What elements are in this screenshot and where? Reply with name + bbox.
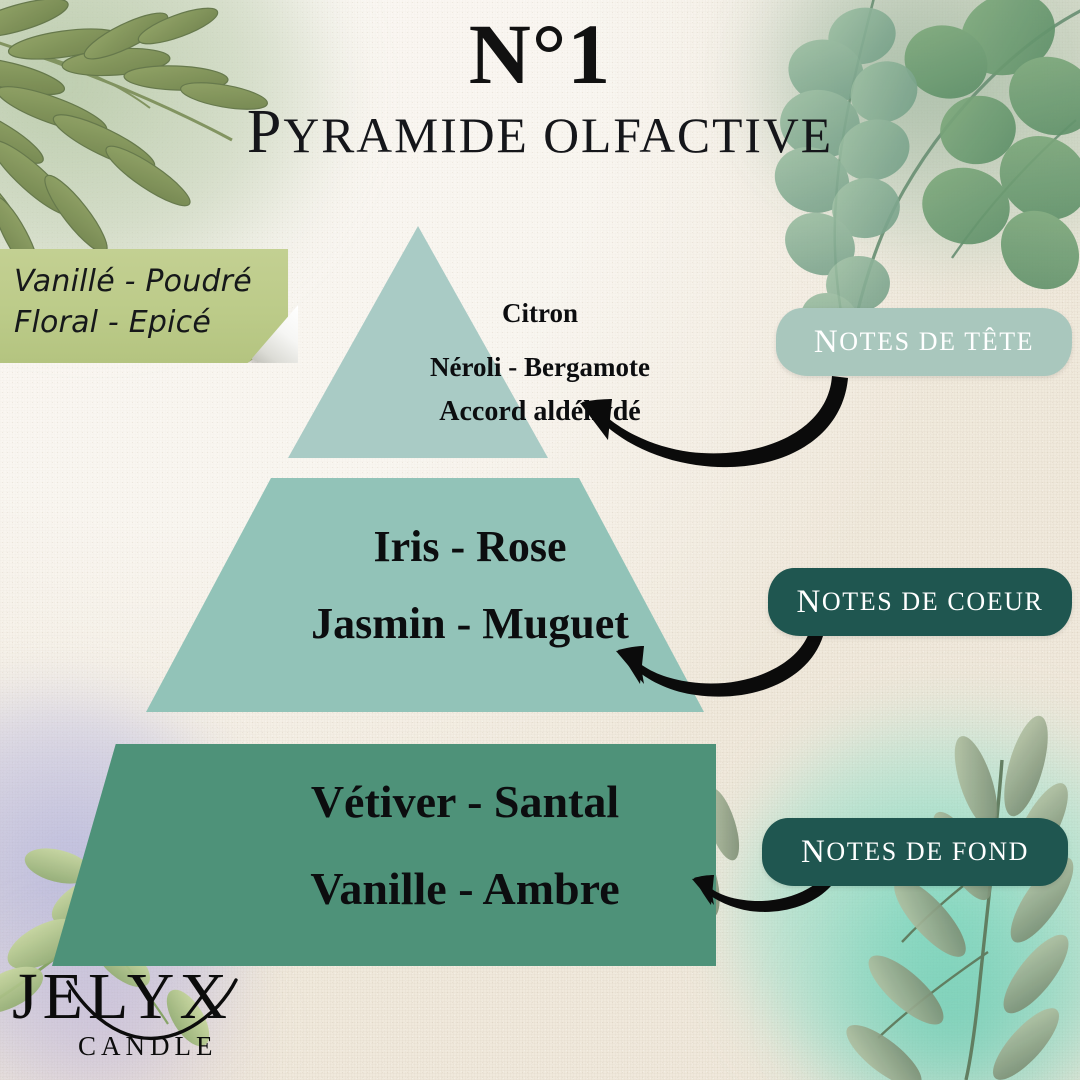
pill-notes-de-fond-initial: N [801, 834, 826, 871]
note-heart-1: Iris - Rose [0, 521, 940, 572]
pill-notes-de-coeur-initial: N [796, 584, 821, 621]
pyramid-level-heart[interactable] [146, 478, 704, 712]
logo-flourish-icon [12, 966, 262, 1058]
note-top-3: Accord aldéhydé [0, 396, 1080, 428]
fragrance-family-tag: Vanillé - Poudré Floral - Epicé [0, 249, 300, 369]
pill-notes-de-coeur-label: OTES DE COEUR [822, 587, 1044, 617]
pill-notes-de-tete-label: OTES DE TÊTE [839, 327, 1034, 357]
page-title: PYRAMIDE OLFACTIVE [0, 100, 1080, 165]
page-title-initial: P [247, 98, 283, 166]
pill-notes-de-fond-label: OTES DE FOND [826, 837, 1029, 867]
poster-header: N°1 PYRAMIDE OLFACTIVE [0, 14, 1080, 165]
pill-notes-de-fond[interactable]: NOTES DE FOND [762, 818, 1068, 886]
fragrance-family-tag-text: Vanillé - Poudré Floral - Epicé [14, 261, 274, 344]
page-title-rest: YRAMIDE OLFACTIVE [283, 108, 833, 163]
brand-logo[interactable]: JELYX CANDLE [12, 966, 232, 1062]
fragrance-family-line-2: Floral - Epicé [14, 302, 274, 343]
fragrance-family-line-1: Vanillé - Poudré [14, 261, 274, 302]
pill-notes-de-tete[interactable]: NOTES DE TÊTE [776, 308, 1072, 376]
pill-notes-de-coeur[interactable]: NOTES DE COEUR [768, 568, 1072, 636]
poster-canvas: N°1 PYRAMIDE OLFACTIVE Vanillé - Poudré … [0, 0, 1080, 1080]
pill-notes-de-tete-initial: N [814, 324, 839, 361]
edition-number: N°1 [0, 14, 1080, 96]
